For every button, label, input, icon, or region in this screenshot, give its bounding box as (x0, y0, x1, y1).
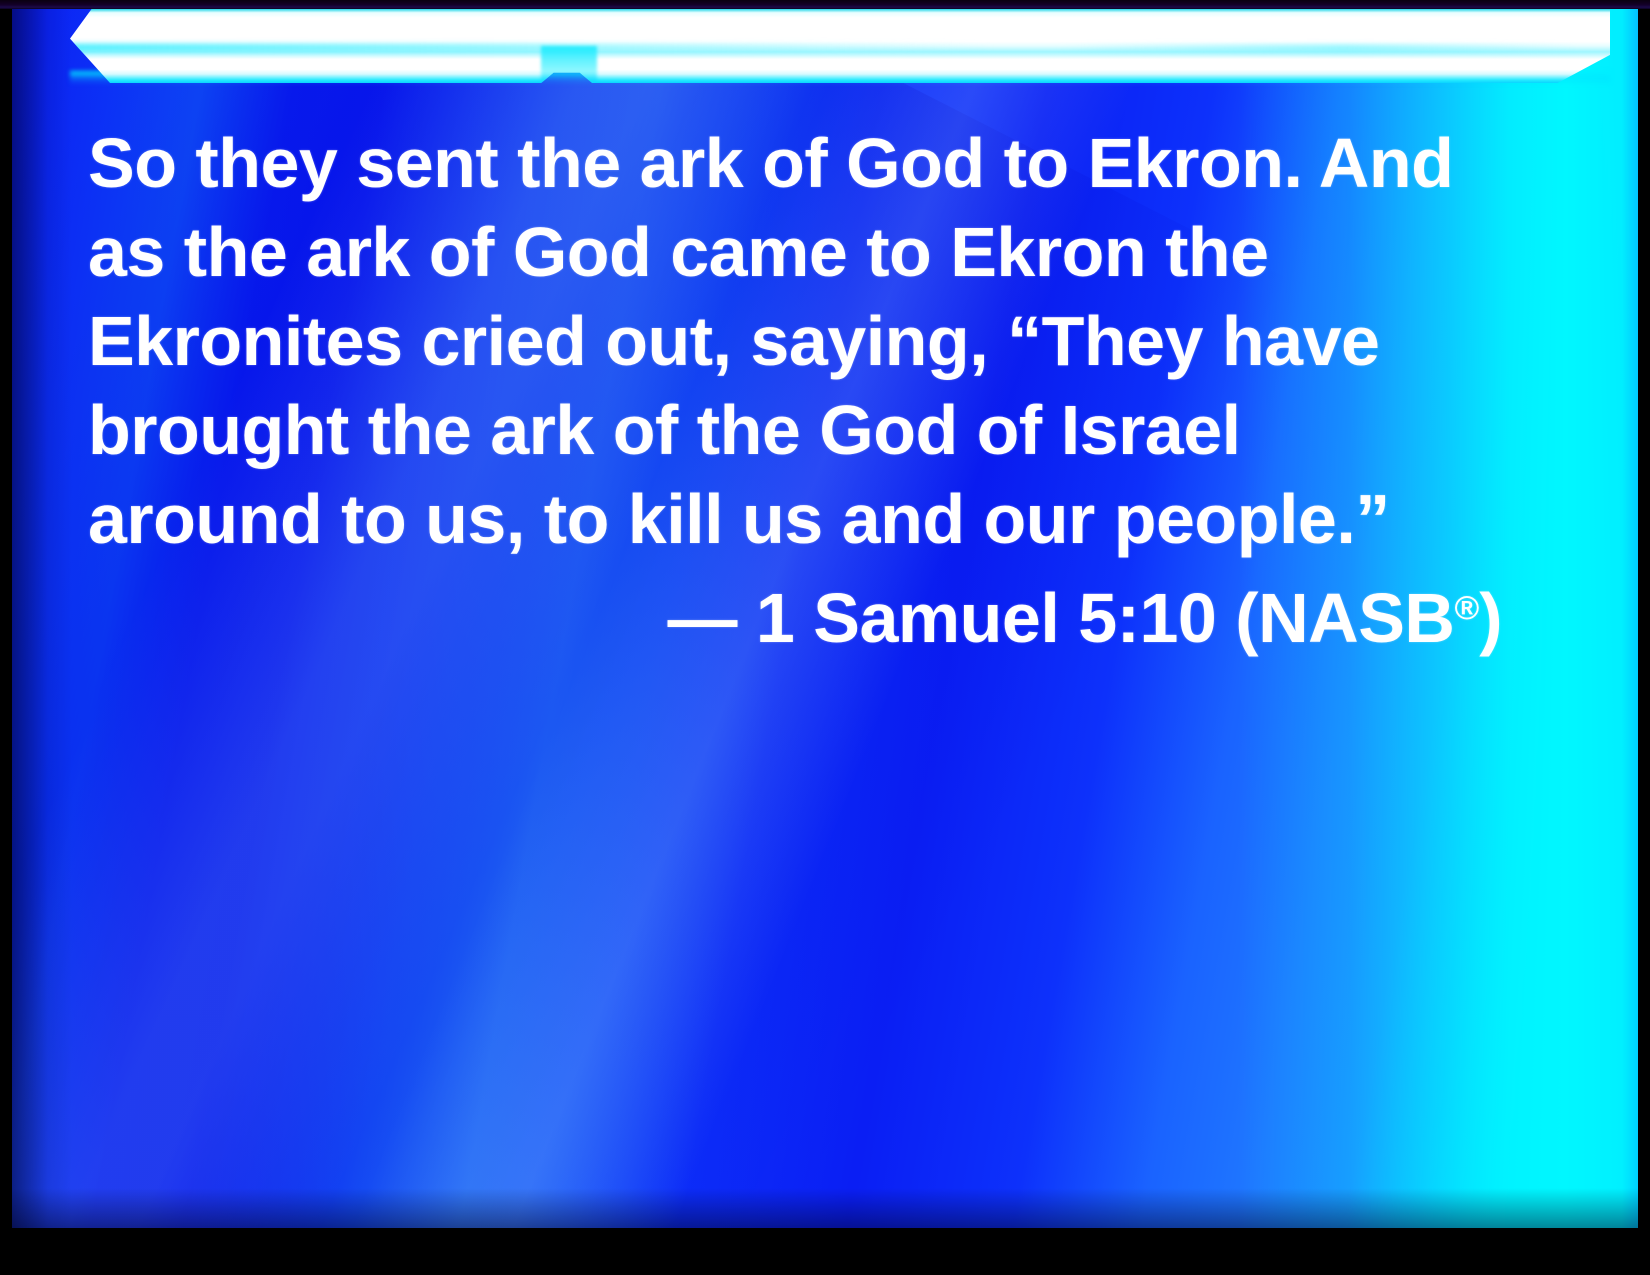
banner-white-shape (70, 9, 1610, 83)
verse-text-block: So they sent the ark of God to Ekron. An… (88, 119, 1508, 663)
verse-line-1: So they sent the ark of God to Ekron. An… (88, 119, 1508, 208)
attribution-suffix: ) (1479, 579, 1502, 657)
verse-line-5: around to us, to kill us and our people.… (88, 475, 1508, 564)
banner-cyan-stripe-right (1056, 45, 1580, 52)
top-banner (70, 9, 1610, 83)
verse-slide: So they sent the ark of God to Ekron. An… (0, 0, 1650, 1275)
background-left-vignette (12, 9, 72, 1228)
verse-line-4: brought the ark of the God of Israel (88, 386, 1508, 475)
background-bottom-vignette (12, 1188, 1638, 1228)
top-hairline-decoration (0, 0, 1650, 9)
verse-line-2: as the ark of God came to Ekron the (88, 208, 1508, 297)
banner-cyan-stripe-left (70, 44, 994, 51)
attribution-prefix: — 1 Samuel 5:10 (NASB (667, 579, 1454, 657)
banner-cyan-notch (541, 46, 596, 83)
registered-trademark-icon: ® (1454, 590, 1479, 627)
verse-line-3: Ekronites cried out, saying, “They have (88, 297, 1508, 386)
verse-attribution: — 1 Samuel 5:10 (NASB®) (88, 564, 1508, 663)
slide-canvas: So they sent the ark of God to Ekron. An… (12, 9, 1638, 1228)
